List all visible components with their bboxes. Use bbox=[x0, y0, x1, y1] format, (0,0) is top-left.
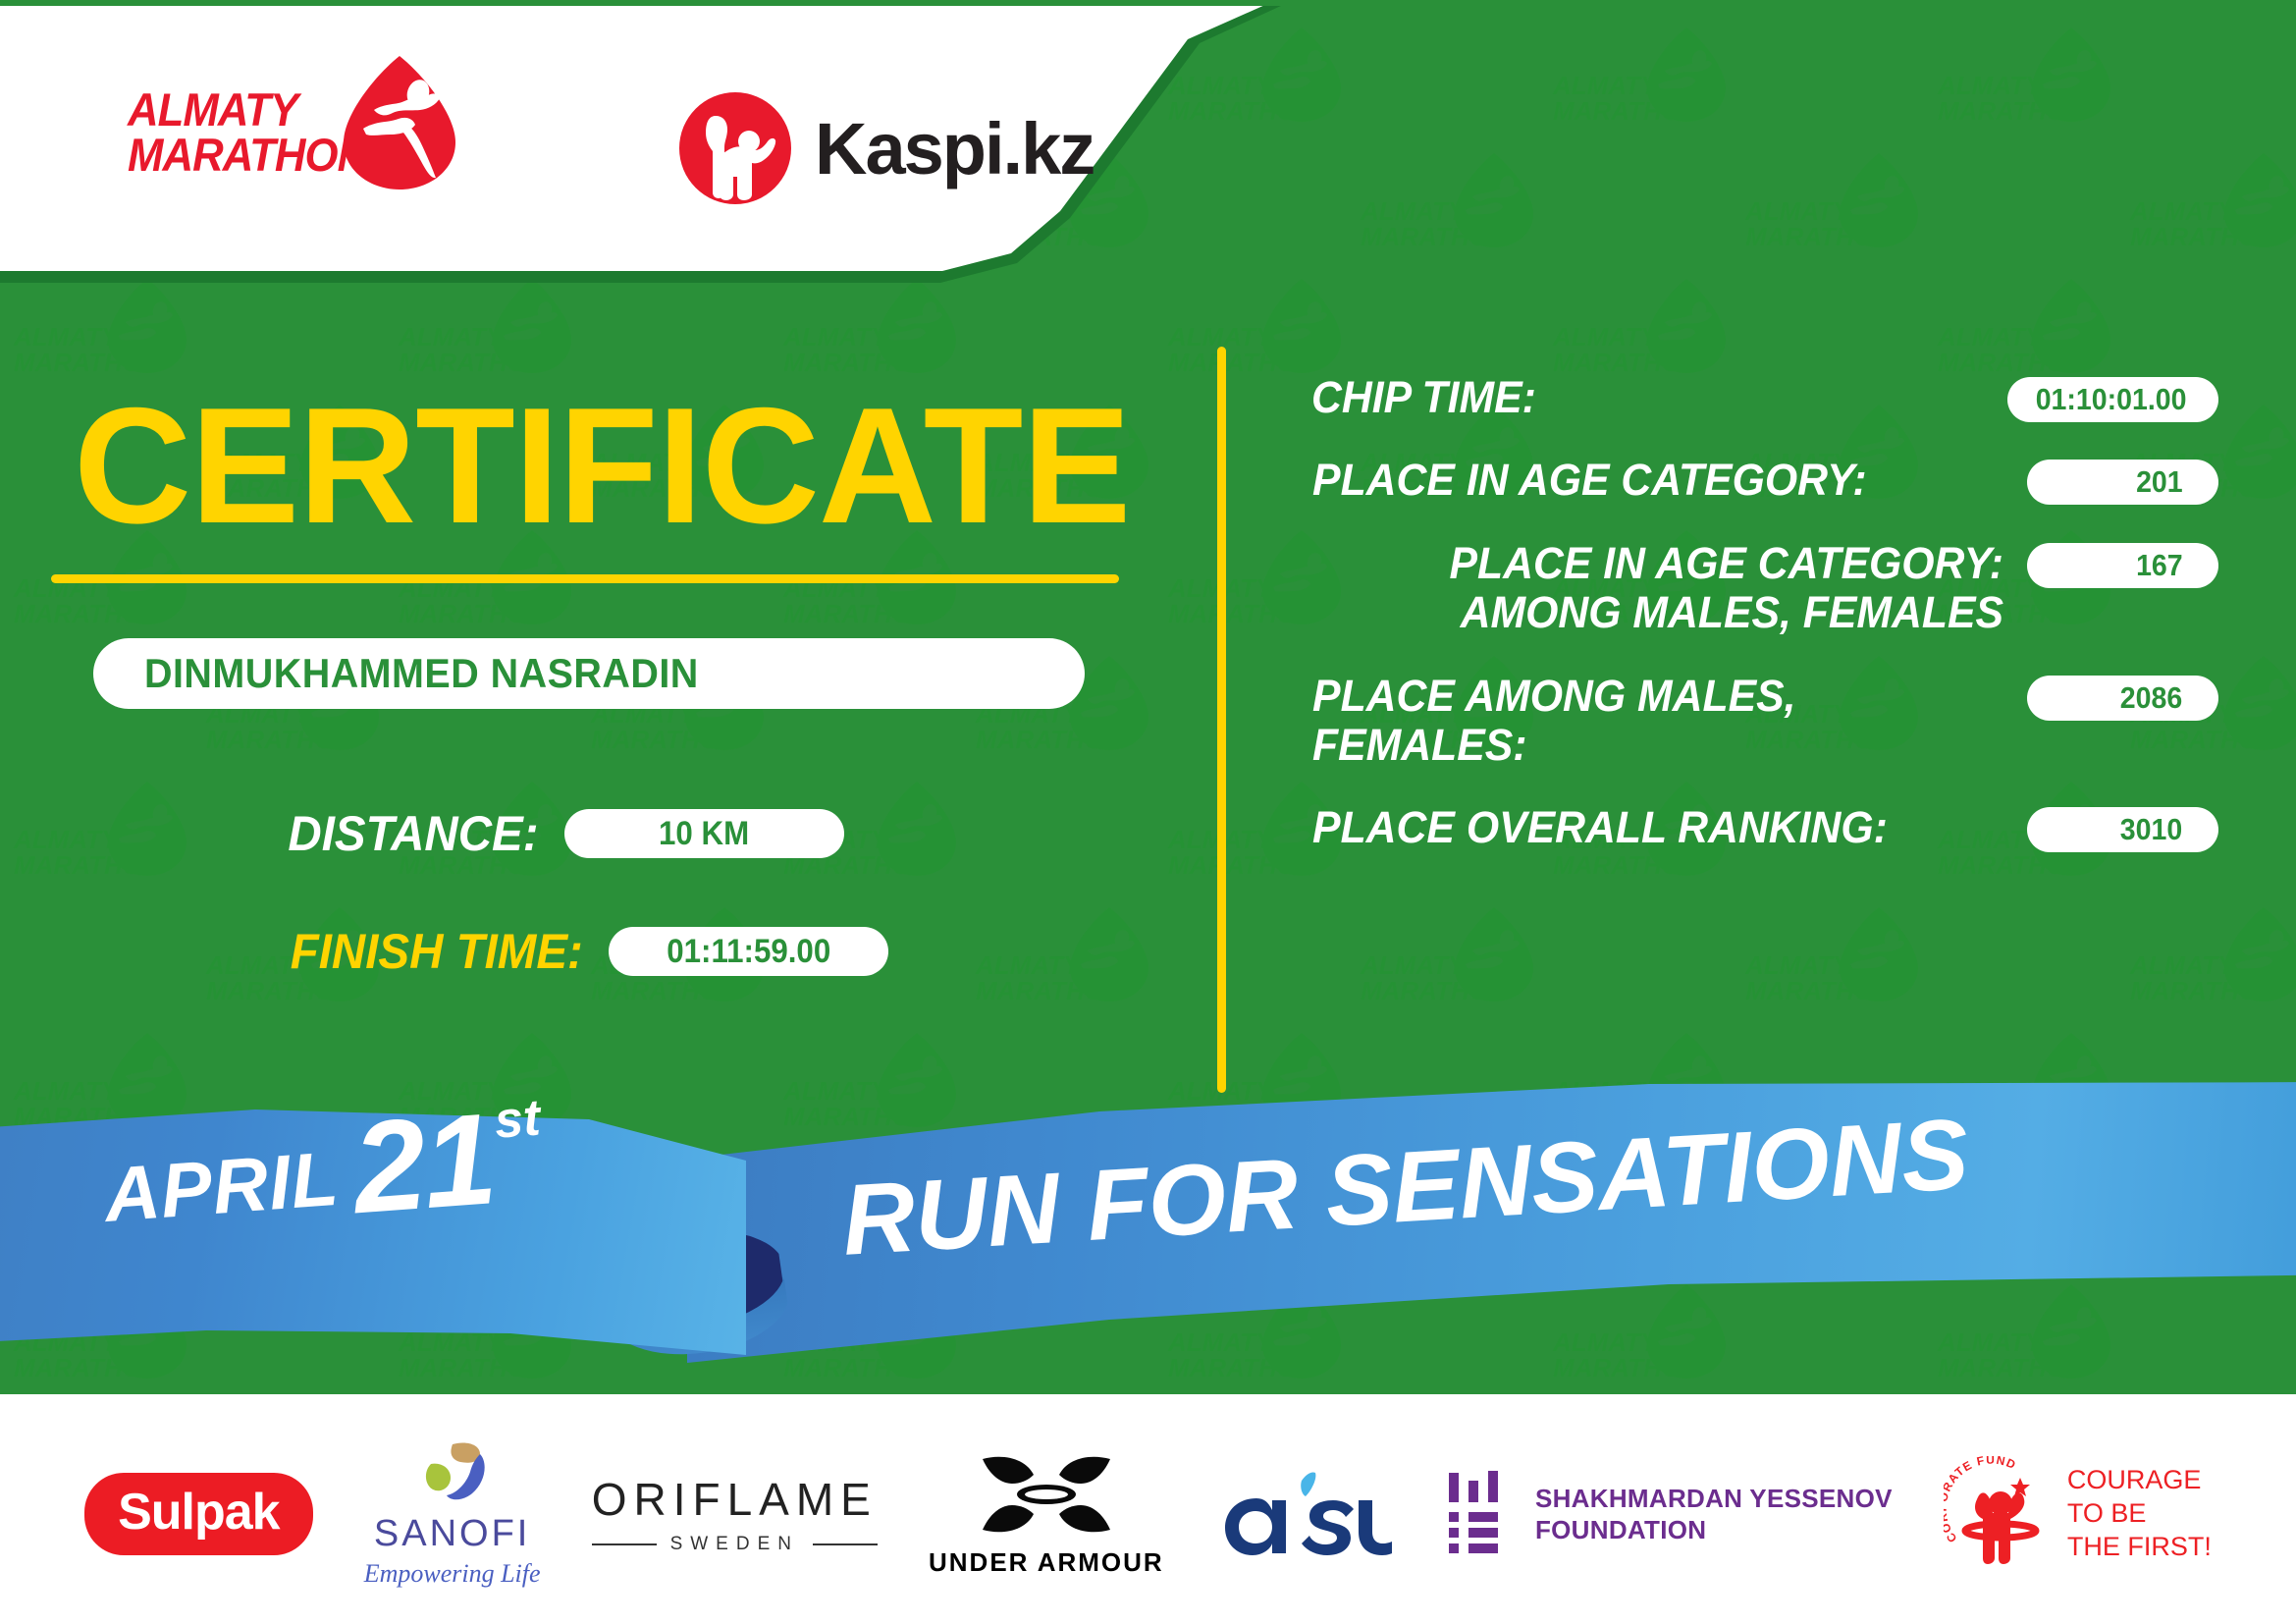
oriflame-subtitle-row: SWEDEN bbox=[592, 1534, 878, 1555]
stat-row: CHIP TIME:01:10:01.00 bbox=[1276, 373, 2218, 422]
finish-time-row: FINISH TIME: 01:11:59.00 bbox=[275, 923, 888, 980]
yessenov-foundation-text: SHAKHMARDAN YESSENOVFOUNDATION bbox=[1535, 1483, 1893, 1546]
under-armour-text: UNDER ARMOUR bbox=[929, 1547, 1164, 1578]
sanofi-swirl-icon bbox=[407, 1440, 498, 1509]
column-divider bbox=[1217, 347, 1226, 1093]
oriflame-subtitle: SWEDEN bbox=[670, 1534, 799, 1555]
stat-value-pill: 201 bbox=[2027, 460, 2218, 505]
almaty-marathon-logo-text: ALMATY MARATHON bbox=[128, 87, 367, 177]
under-armour-icon bbox=[973, 1451, 1120, 1542]
sponsor-yessenov-foundation: SHAKHMARDAN YESSENOVFOUNDATION bbox=[1443, 1469, 1893, 1559]
almaty-marathon-logo-line1: ALMATY bbox=[128, 87, 367, 133]
stat-value: 201 bbox=[2136, 464, 2183, 500]
oriflame-rule-right bbox=[813, 1543, 878, 1545]
stat-row: PLACE AMONG MALES, FEMALES:2086 bbox=[1276, 672, 2218, 771]
courage-figure-icon: CORPORATE FUND bbox=[1944, 1456, 2059, 1572]
title-underline bbox=[51, 574, 1119, 583]
finish-time-label: FINISH TIME: bbox=[291, 923, 583, 980]
sponsor-oriflame: ORIFLAME SWEDEN bbox=[592, 1473, 878, 1555]
certificate-page: ALMATY MARATHON Kaspi.kz CERTIFICATE DIN… bbox=[0, 0, 2296, 1624]
finish-time-value-pill: 01:11:59.00 bbox=[609, 927, 888, 976]
sponsor-asu bbox=[1215, 1469, 1392, 1559]
courage-line: TO BE bbox=[2067, 1497, 2212, 1531]
asu-logo bbox=[1215, 1469, 1392, 1559]
stat-row: PLACE OVERALL RANKING:3010 bbox=[1276, 803, 2218, 852]
kaspi-logo: Kaspi.kz bbox=[677, 90, 1094, 206]
sponsor-under-armour: UNDER ARMOUR bbox=[929, 1451, 1164, 1578]
sulpak-logo: Sulpak bbox=[84, 1473, 313, 1555]
results-stats-list: CHIP TIME:01:10:01.00PLACE IN AGE CATEGO… bbox=[1276, 373, 2218, 887]
athlete-name-field: DINMUKHAMMED NASRADIN bbox=[93, 638, 1085, 709]
stat-value-pill: 3010 bbox=[2027, 807, 2218, 852]
stat-value-pill: 167 bbox=[2027, 543, 2218, 588]
distance-label: DISTANCE: bbox=[288, 805, 538, 862]
stat-label: PLACE AMONG MALES, FEMALES: bbox=[1312, 672, 2003, 771]
sanofi-tagline: Empowering Life bbox=[364, 1559, 541, 1589]
oriflame-logo-text: ORIFLAME bbox=[592, 1473, 878, 1526]
stat-label: PLACE IN AGE CATEGORY: bbox=[1312, 456, 2003, 505]
stat-label: PLACE OVERALL RANKING: bbox=[1312, 803, 2003, 852]
sponsor-sanofi: SANOFI Empowering Life bbox=[364, 1440, 541, 1589]
running-figure-drop-icon bbox=[342, 54, 457, 191]
kaspi-people-circle-icon bbox=[677, 90, 793, 206]
sulpak-logo-text: Sulpak bbox=[118, 1484, 280, 1541]
stat-value-pill: 01:10:01.00 bbox=[2007, 377, 2218, 422]
courage-line: THE FIRST! bbox=[2067, 1531, 2212, 1564]
event-day: 21 bbox=[349, 1106, 497, 1221]
yessenov-line: SHAKHMARDAN YESSENOV bbox=[1535, 1483, 1893, 1515]
almaty-marathon-logo: ALMATY MARATHON bbox=[128, 59, 452, 206]
athlete-name: DINMUKHAMMED NASRADIN bbox=[144, 650, 699, 697]
distance-value-pill: 10 KM bbox=[564, 809, 844, 858]
courage-line: COURAGE bbox=[2067, 1464, 2212, 1497]
page-title: CERTIFICATE bbox=[74, 383, 1130, 548]
stat-value: 3010 bbox=[2120, 812, 2182, 847]
header-top-green-strip bbox=[0, 0, 1296, 6]
stat-label: PLACE IN AGE CATEGORY: AMONG MALES, FEMA… bbox=[1312, 539, 2003, 638]
sponsor-bar: Sulpak SANOFI Empowering Life ORIFLAME S… bbox=[0, 1404, 2296, 1624]
event-month: APRIL bbox=[101, 1134, 342, 1240]
finish-time-value: 01:11:59.00 bbox=[667, 933, 830, 971]
sponsor-sulpak: Sulpak bbox=[84, 1473, 313, 1555]
kaspi-logo-text: Kaspi.kz bbox=[815, 107, 1094, 190]
stat-value-pill: 2086 bbox=[2027, 676, 2218, 721]
sanofi-logo-text: SANOFI bbox=[374, 1513, 530, 1555]
oriflame-rule-left bbox=[592, 1543, 657, 1545]
yessenov-line: FOUNDATION bbox=[1535, 1514, 1893, 1546]
stat-value: 2086 bbox=[2120, 680, 2182, 716]
sponsor-courage-fund: CORPORATE FUND COURAGETO BETHE FIRST! bbox=[1944, 1456, 2212, 1572]
almaty-marathon-logo-line2: MARATHON bbox=[128, 133, 367, 178]
courage-slogan-text: COURAGETO BETHE FIRST! bbox=[2067, 1464, 2212, 1563]
stat-row: PLACE IN AGE CATEGORY:201 bbox=[1276, 456, 2218, 505]
distance-value: 10 KM bbox=[659, 815, 749, 853]
stat-row: PLACE IN AGE CATEGORY: AMONG MALES, FEMA… bbox=[1276, 539, 2218, 638]
event-day-ordinal: st bbox=[493, 1089, 543, 1151]
stat-value: 01:10:01.00 bbox=[2036, 382, 2187, 417]
stat-value: 167 bbox=[2136, 548, 2183, 583]
yessenov-bars-icon bbox=[1443, 1469, 1514, 1559]
stat-label: CHIP TIME: bbox=[1311, 373, 1984, 422]
distance-row: DISTANCE: 10 KM bbox=[275, 805, 844, 862]
